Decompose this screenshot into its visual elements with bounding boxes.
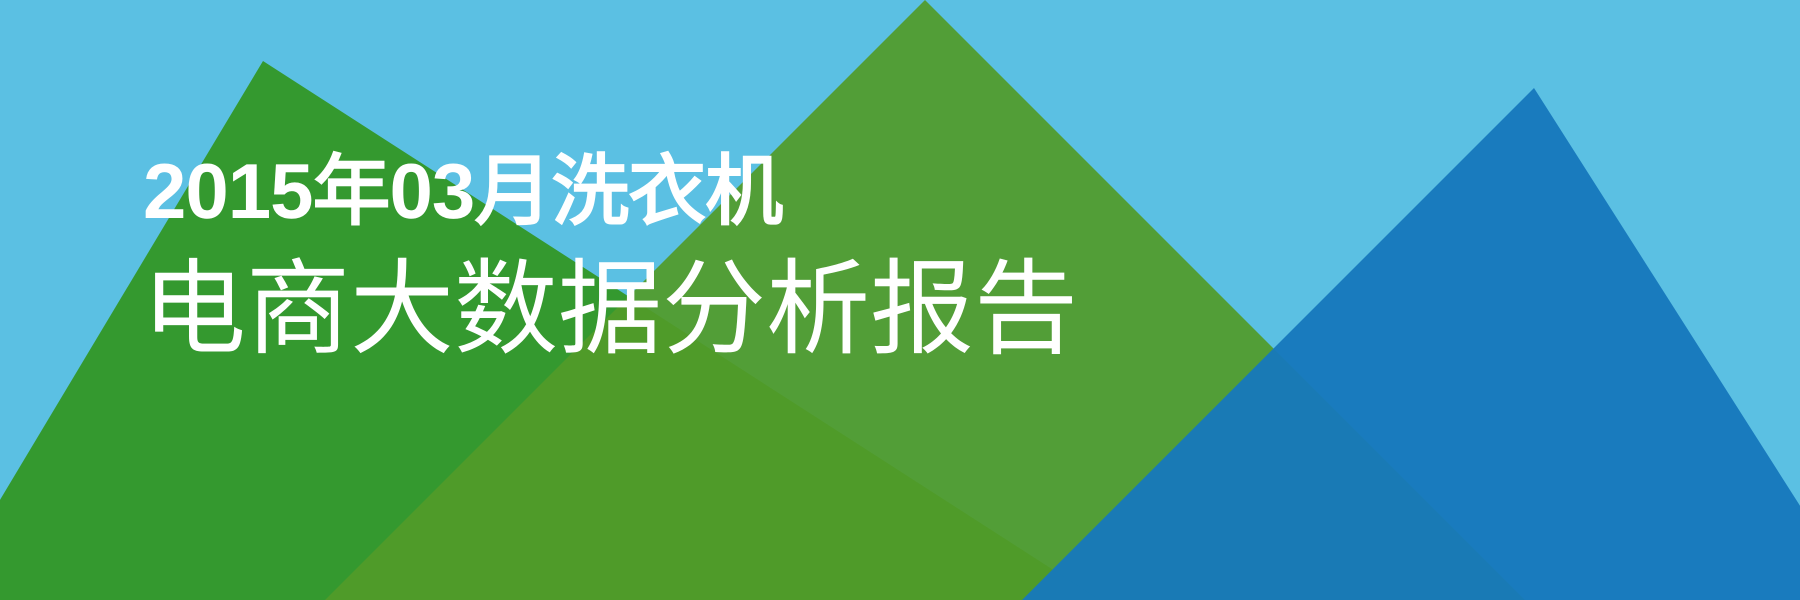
background-geometric-artwork <box>0 0 1800 600</box>
report-cover-banner: 2015年03月洗衣机 电商大数据分析报告 <box>0 0 1800 600</box>
